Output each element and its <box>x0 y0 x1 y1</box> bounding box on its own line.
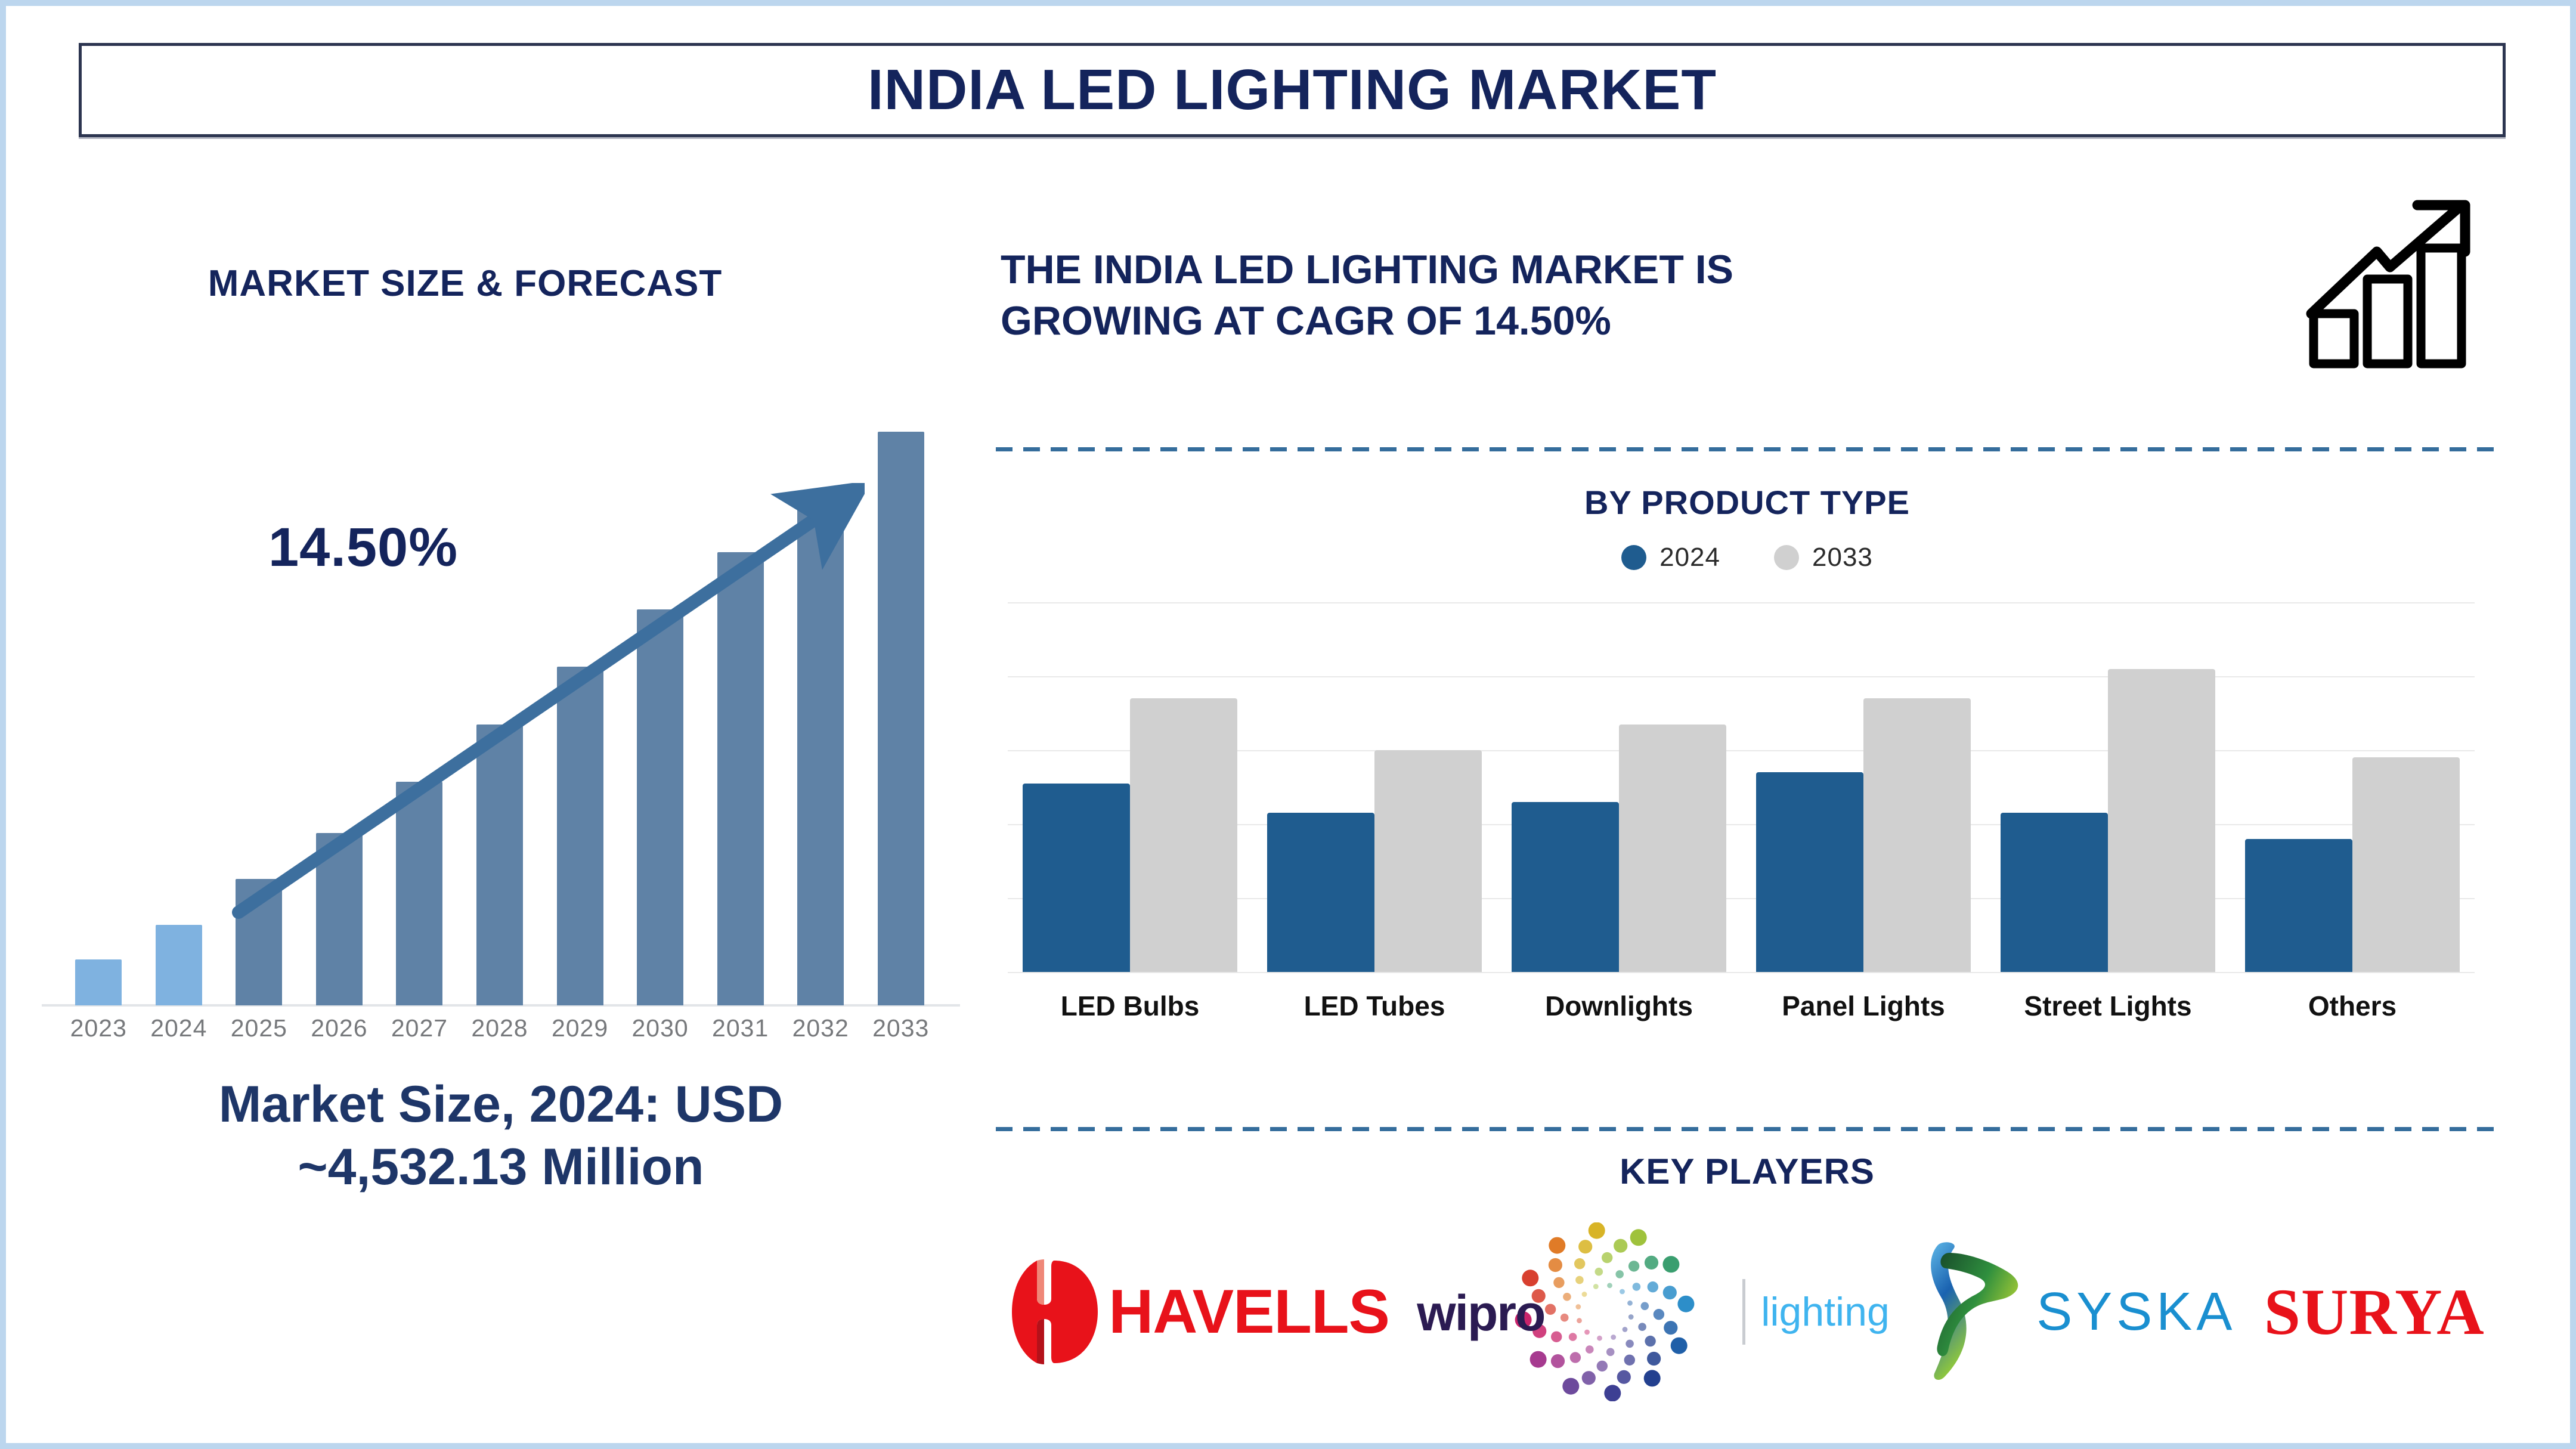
legend-item[interactable]: 2033 <box>1774 543 1873 572</box>
wipro-dot <box>1551 1354 1565 1368</box>
year-label: 2027 <box>379 1014 460 1042</box>
wipro-dot <box>1578 1240 1592 1253</box>
wipro-dot <box>1647 1352 1661 1366</box>
wipro-dot <box>1654 1309 1664 1320</box>
product-type-bar-group <box>1497 602 1741 972</box>
wipro-dot <box>1607 1283 1612 1288</box>
legend-label: 2024 <box>1659 543 1720 572</box>
wipro-dot <box>1606 1348 1615 1357</box>
market-size-bar <box>878 432 924 1005</box>
wipro-dot <box>1563 1293 1571 1301</box>
divider-top <box>996 447 2498 451</box>
year-label: 2024 <box>139 1014 219 1042</box>
wipro-dot <box>1582 1292 1587 1297</box>
wipro-dot <box>1663 1286 1677 1299</box>
wipro-dot <box>1575 1276 1584 1284</box>
title-box: INDIA LED LIGHTING MARKET <box>79 43 2506 137</box>
wipro-dot <box>1602 1252 1612 1263</box>
legend-label: 2033 <box>1812 543 1873 572</box>
product-type-bar-group <box>1252 602 1497 972</box>
market-size-value: Market Size, 2024: USD ~4,532.13 Million <box>42 1073 960 1199</box>
market-size-chart: 14.50% 202320242025202620272028202920302… <box>42 400 960 1032</box>
product-type-label: Downlights <box>1497 990 1741 1022</box>
page-title: INDIA LED LIGHTING MARKET <box>868 57 1717 123</box>
market-size-panel: MARKET SIZE & FORECAST 14.50% 2023202420… <box>42 244 972 1413</box>
wipro-dot <box>1644 1370 1661 1386</box>
wipro-dot <box>1617 1370 1631 1384</box>
wipro-dot <box>1595 1268 1603 1276</box>
havells-wordmark: HAVELLS <box>1109 1277 1389 1348</box>
market-size-year-labels: 2023202420252026202720282029203020312032… <box>58 1014 941 1042</box>
cagr-headline: THE INDIA LED LIGHTING MARKET IS GROWING… <box>1001 244 2241 346</box>
wipro-divider <box>1742 1279 1745 1345</box>
product-type-bar <box>1130 698 1237 972</box>
segment-panel: THE INDIA LED LIGHTING MARKET IS GROWING… <box>996 244 2522 1413</box>
segment-heading: BY PRODUCT TYPE <box>996 483 2498 522</box>
wipro-wordmark: wipro <box>1417 1284 1544 1342</box>
product-type-bar <box>1512 802 1619 972</box>
wipro-dot <box>1620 1289 1625 1295</box>
wipro-dot <box>1589 1222 1605 1239</box>
wipro-dot <box>1630 1229 1647 1246</box>
cagr-headline-line2: GROWING AT CAGR OF 14.50% <box>1001 296 2241 347</box>
year-label: 2029 <box>540 1014 620 1042</box>
wipro-dot <box>1614 1239 1627 1253</box>
logo-havells: HAVELLS <box>1010 1258 1389 1366</box>
wipro-dot <box>1574 1258 1585 1269</box>
wipro-dot <box>1626 1340 1634 1348</box>
year-label: 2026 <box>299 1014 380 1042</box>
product-type-label: Street Lights <box>1986 990 2230 1022</box>
logo-wipro-lighting: wipro lighting <box>1417 1222 1890 1401</box>
product-type-bar-group <box>2230 602 2475 972</box>
wipro-dot <box>1597 1336 1602 1341</box>
wipro-dot <box>1623 1327 1628 1332</box>
wipro-dot <box>1551 1332 1562 1342</box>
product-type-bar-group <box>1008 602 1252 972</box>
wipro-dot <box>1563 1378 1580 1395</box>
gridline <box>1008 972 2475 973</box>
market-size-bar <box>75 959 122 1005</box>
wipro-dot <box>1570 1352 1581 1363</box>
product-type-bar <box>1374 750 1482 972</box>
product-type-bar <box>1863 698 1971 972</box>
wipro-dot <box>1561 1314 1569 1322</box>
legend-swatch-icon <box>1774 545 1799 570</box>
year-label: 2031 <box>700 1014 781 1042</box>
year-label: 2028 <box>460 1014 540 1042</box>
product-type-bar <box>1267 813 1374 972</box>
wipro-dot <box>1582 1371 1596 1385</box>
wipro-dot <box>1627 1301 1633 1306</box>
market-size-value-line2: ~4,532.13 Million <box>42 1136 960 1199</box>
logo-syska: SYSKA <box>1917 1237 2236 1386</box>
wipro-dot <box>1569 1333 1577 1341</box>
product-type-bar-group <box>1741 602 1986 972</box>
infographic-page: INDIA LED LIGHTING MARKET MARKET SIZE & … <box>0 0 2576 1449</box>
wipro-dot <box>1577 1318 1582 1323</box>
wipro-lighting-subtext: lighting <box>1761 1289 1890 1335</box>
wipro-dot <box>1586 1345 1594 1354</box>
wipro-dot <box>1611 1335 1617 1340</box>
wipro-dot <box>1664 1321 1677 1335</box>
wipro-dot <box>1584 1330 1590 1335</box>
year-label: 2032 <box>781 1014 861 1042</box>
year-label: 2025 <box>219 1014 299 1042</box>
product-type-bar <box>1619 724 1726 972</box>
market-size-bar-column <box>139 403 219 1005</box>
wipro-dot <box>1605 1385 1621 1401</box>
product-type-bar <box>2108 669 2215 972</box>
market-size-bar-column <box>860 403 941 1005</box>
syska-wordmark: SYSKA <box>2036 1281 2236 1343</box>
market-size-heading: MARKET SIZE & FORECAST <box>137 262 793 305</box>
year-label: 2030 <box>620 1014 701 1042</box>
wipro-dot <box>1628 1314 1634 1320</box>
growth-chart-icon <box>2301 197 2479 370</box>
year-label: 2033 <box>860 1014 941 1042</box>
wipro-dot <box>1645 1336 1656 1346</box>
product-type-label: LED Tubes <box>1252 990 1497 1022</box>
product-type-bar <box>2245 839 2352 972</box>
legend-swatch-icon <box>1621 545 1646 570</box>
cagr-annotation: 14.50% <box>268 516 458 579</box>
divider-bottom <box>996 1127 2498 1131</box>
product-type-bar <box>2352 757 2460 972</box>
wipro-dot <box>1633 1283 1641 1291</box>
wipro-dot <box>1553 1277 1564 1288</box>
wipro-dot <box>1597 1361 1608 1371</box>
wipro-dot <box>1628 1261 1639 1271</box>
wipro-dot <box>1639 1323 1647 1331</box>
wipro-dot <box>1549 1237 1566 1254</box>
product-type-chart <box>1008 602 2475 972</box>
product-type-bar <box>1756 772 1863 972</box>
wipro-dot <box>1530 1351 1547 1368</box>
wipro-dot <box>1648 1281 1658 1292</box>
market-size-bar <box>156 925 202 1005</box>
chart-legend: 20242033 <box>996 543 2498 572</box>
surya-wordmark: SURYA <box>2264 1274 2485 1350</box>
product-type-bar <box>2001 813 2108 972</box>
wipro-dot <box>1671 1337 1688 1354</box>
syska-mark-icon <box>1917 1237 2030 1386</box>
product-type-bars <box>1008 602 2475 972</box>
wipro-dot <box>1549 1258 1562 1272</box>
market-size-bar-column <box>58 403 139 1005</box>
wipro-dot <box>1593 1284 1599 1289</box>
product-type-label: Others <box>2230 990 2475 1022</box>
wipro-dot <box>1645 1256 1658 1270</box>
logo-surya: SURYA <box>2264 1274 2485 1350</box>
havells-mark-icon <box>1010 1258 1099 1366</box>
key-players-logos: HAVELLS wipro lighting <box>996 1222 2498 1401</box>
product-type-bar <box>1023 784 1130 972</box>
legend-item[interactable]: 2024 <box>1621 543 1720 572</box>
wipro-dot <box>1616 1270 1624 1278</box>
market-size-value-line1: Market Size, 2024: USD <box>42 1073 960 1136</box>
product-type-label: Panel Lights <box>1741 990 1986 1022</box>
wipro-dot <box>1624 1355 1635 1366</box>
product-type-label: LED Bulbs <box>1008 990 1252 1022</box>
key-players-heading: KEY PLAYERS <box>996 1151 2498 1192</box>
wipro-dot <box>1678 1296 1695 1312</box>
wipro-dot <box>1576 1304 1581 1309</box>
wipro-dot <box>1545 1304 1556 1315</box>
year-label: 2023 <box>58 1014 139 1042</box>
wipro-dot <box>1641 1302 1649 1311</box>
wipro-dot <box>1663 1256 1680 1272</box>
product-type-category-labels: LED BulbsLED TubesDownlightsPanel Lights… <box>1008 990 2475 1022</box>
product-type-bar-group <box>1986 602 2230 972</box>
cagr-headline-line1: THE INDIA LED LIGHTING MARKET IS <box>1001 244 2241 296</box>
